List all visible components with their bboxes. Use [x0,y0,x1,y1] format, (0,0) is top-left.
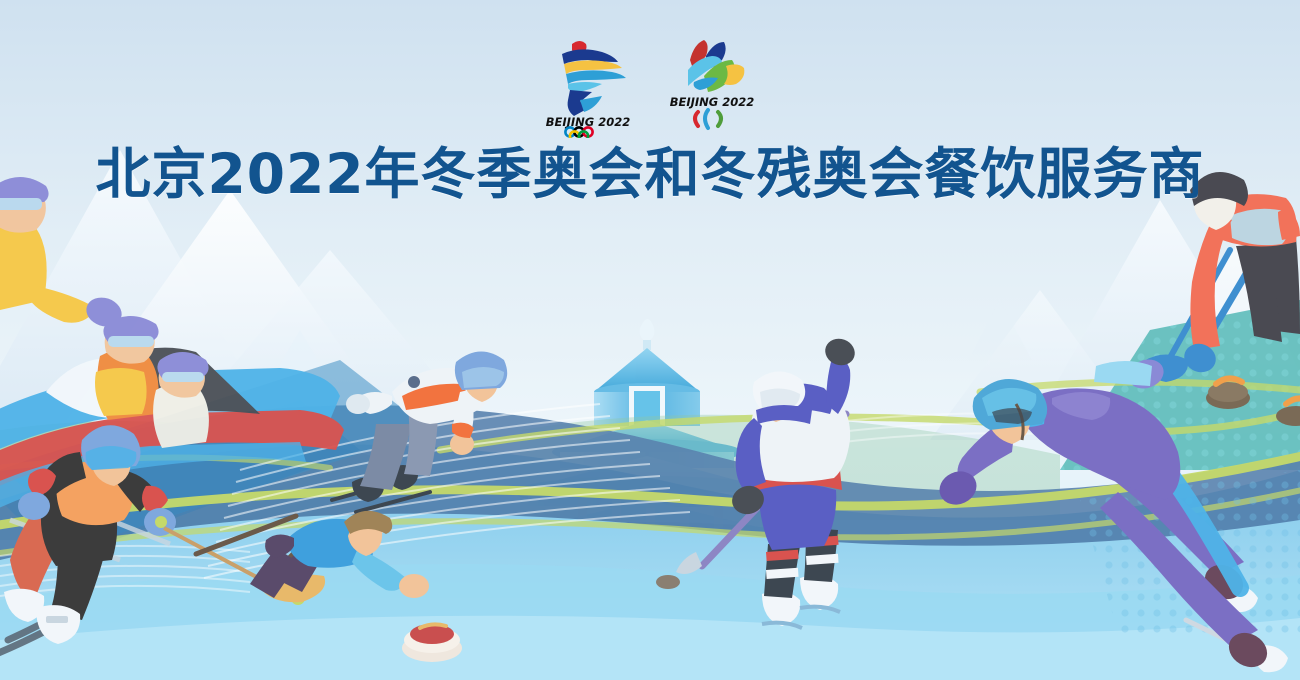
athlete-ice-hockey-player [656,335,859,628]
beijing-2022-olympic-emblem: BEIJING 2022 [540,30,636,138]
agitos-icon [695,110,721,128]
athlete-speed-skater-left [332,351,507,512]
olympic-ribbon-icon [562,41,626,116]
curling-stone-right-b [1276,398,1300,426]
athlete-speed-skater-right [934,379,1288,674]
curling-stone-left [402,624,462,662]
beijing-2022-paralympic-emblem: BEIJING 2022 [664,30,760,138]
bobsled-athlete-three [153,352,209,448]
page-title: 北京2022年冬季奥会和冬残奥会餐饮服务商 [0,146,1300,204]
emblem-row: BEIJING 2022 [0,30,1300,138]
athlete-curler-sweeping [1094,172,1300,426]
beijing-2022-catering-banner: BEIJING 2022 [0,0,1300,680]
title-block: 北京2022年冬季奥会和冬残奥会餐饮服务商 [0,146,1300,204]
paralympic-ribbon-icon [688,40,744,92]
athlete-curler-sliding [196,511,462,662]
paralympic-wordmark: BEIJING 2022 [670,95,755,109]
curling-stone-right-a [1206,378,1250,409]
bobsled-athlete-two [95,316,159,420]
